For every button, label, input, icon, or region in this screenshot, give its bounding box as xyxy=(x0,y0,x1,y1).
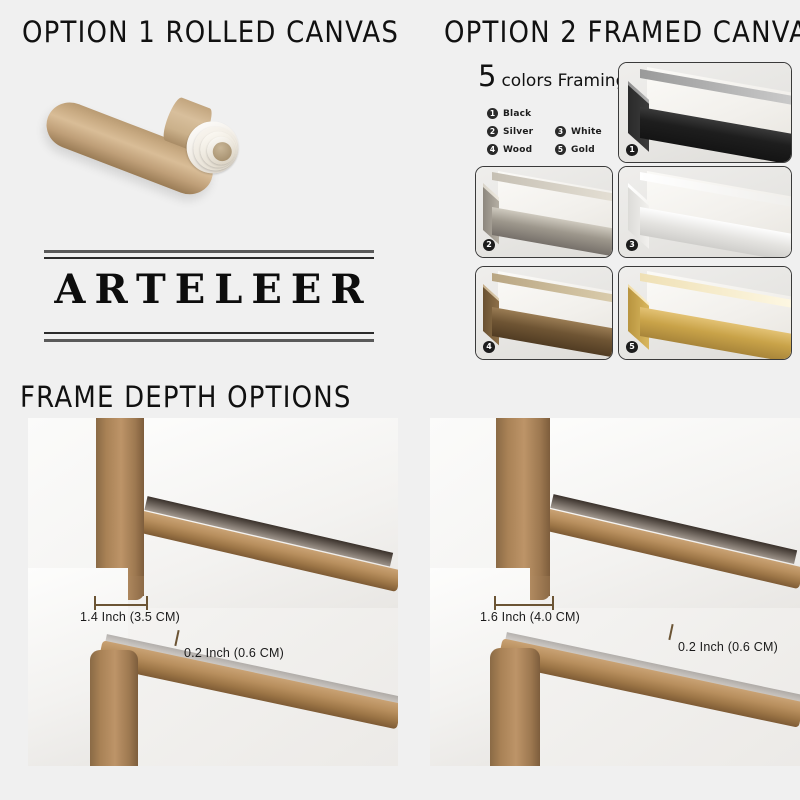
frame-sample-wood[interactable]: 4 xyxy=(475,266,613,360)
frame-depth-heading: FRAME DEPTH OPTIONS xyxy=(20,381,352,415)
dimension-tick xyxy=(668,624,673,640)
dimension-tick xyxy=(174,630,179,646)
legend-row: 2 Silver 3 White xyxy=(487,126,607,137)
number-badge-icon: 2 xyxy=(487,126,498,137)
frame-depth-photo-right: 1.6 Inch (4.0 CM) 0.2 Inch (0.6 CM) xyxy=(430,418,800,766)
frame-color-legend: 1 Black 2 Silver 3 White 4 Wood 5 Gold xyxy=(487,108,607,162)
dimension-line xyxy=(94,604,148,606)
frame-sample-silver[interactable]: 2 xyxy=(475,166,613,258)
number-badge-icon: 5 xyxy=(555,144,566,155)
option1-heading: OPTION 1 ROLLED CANVAS xyxy=(22,16,399,50)
number-badge-icon: 3 xyxy=(555,126,566,137)
legend-item-black: 1 Black xyxy=(487,108,539,119)
legend-label: White xyxy=(571,127,602,137)
colors-title-text: colors Framing xyxy=(501,73,626,90)
number-badge-icon: 4 xyxy=(487,144,498,155)
number-badge-icon: 5 xyxy=(626,341,638,353)
divider-rule-top-thin xyxy=(44,257,374,259)
legend-item-gold: 5 Gold xyxy=(555,144,607,155)
legend-row: 1 Black xyxy=(487,108,607,119)
dimension-tick xyxy=(494,596,496,610)
dimension-line xyxy=(494,604,554,606)
number-badge-icon: 2 xyxy=(483,239,495,251)
divider-rule-top-thick xyxy=(44,250,374,253)
colors-framing-title: 5 colors Framing xyxy=(478,62,626,91)
divider-rule-bottom-thick xyxy=(44,339,374,342)
frame-corner-render xyxy=(619,63,791,162)
frame-sample-black[interactable]: 1 xyxy=(618,62,792,163)
brand-logo: ARTELEER xyxy=(44,250,374,358)
rolled-canvas-tube-image xyxy=(40,72,270,187)
depth-dimension-label-right: 1.6 Inch (4.0 CM) xyxy=(480,610,580,624)
colors-count: 5 xyxy=(478,62,496,91)
dimension-tick xyxy=(146,596,148,610)
thickness-dimension-label-right: 0.2 Inch (0.6 CM) xyxy=(678,640,778,654)
legend-row: 4 Wood 5 Gold xyxy=(487,144,607,155)
number-badge-icon: 3 xyxy=(626,239,638,251)
frame-vertical-bar-lower xyxy=(90,650,138,766)
frame-depth-photo-left: 1.4 Inch (3.5 CM) 0.2 Inch (0.6 CM) xyxy=(28,418,398,766)
legend-label: Black xyxy=(503,109,531,119)
legend-item-wood: 4 Wood xyxy=(487,144,539,155)
divider-rule-bottom-thin xyxy=(44,332,374,334)
legend-item-white: 3 White xyxy=(555,126,607,137)
brand-name: ARTELEER xyxy=(44,266,374,313)
legend-label: Silver xyxy=(503,127,533,137)
frame-sample-white[interactable]: 3 xyxy=(618,166,792,258)
frame-sample-gold[interactable]: 5 xyxy=(618,266,792,360)
dimension-tick xyxy=(552,596,554,610)
frame-vertical-bar-lower xyxy=(490,648,540,766)
legend-label: Gold xyxy=(571,145,595,155)
frame-corner-render xyxy=(619,267,791,359)
frame-corner-render xyxy=(476,167,612,257)
dimension-tick xyxy=(94,596,96,610)
number-badge-icon: 4 xyxy=(483,341,495,353)
frame-corner-render xyxy=(619,167,791,257)
legend-label: Wood xyxy=(503,145,532,155)
depth-dimension-label-left: 1.4 Inch (3.5 CM) xyxy=(80,610,180,624)
number-badge-icon: 1 xyxy=(487,108,498,119)
thickness-dimension-label-left: 0.2 Inch (0.6 CM) xyxy=(184,646,284,660)
infographic-page: OPTION 1 ROLLED CANVAS ARTELEER OPTION 2… xyxy=(0,0,800,800)
frame-corner-render xyxy=(476,267,612,359)
legend-item-silver: 2 Silver xyxy=(487,126,539,137)
number-badge-icon: 1 xyxy=(626,144,638,156)
option2-heading: OPTION 2 FRAMED CANVAS xyxy=(444,16,800,50)
